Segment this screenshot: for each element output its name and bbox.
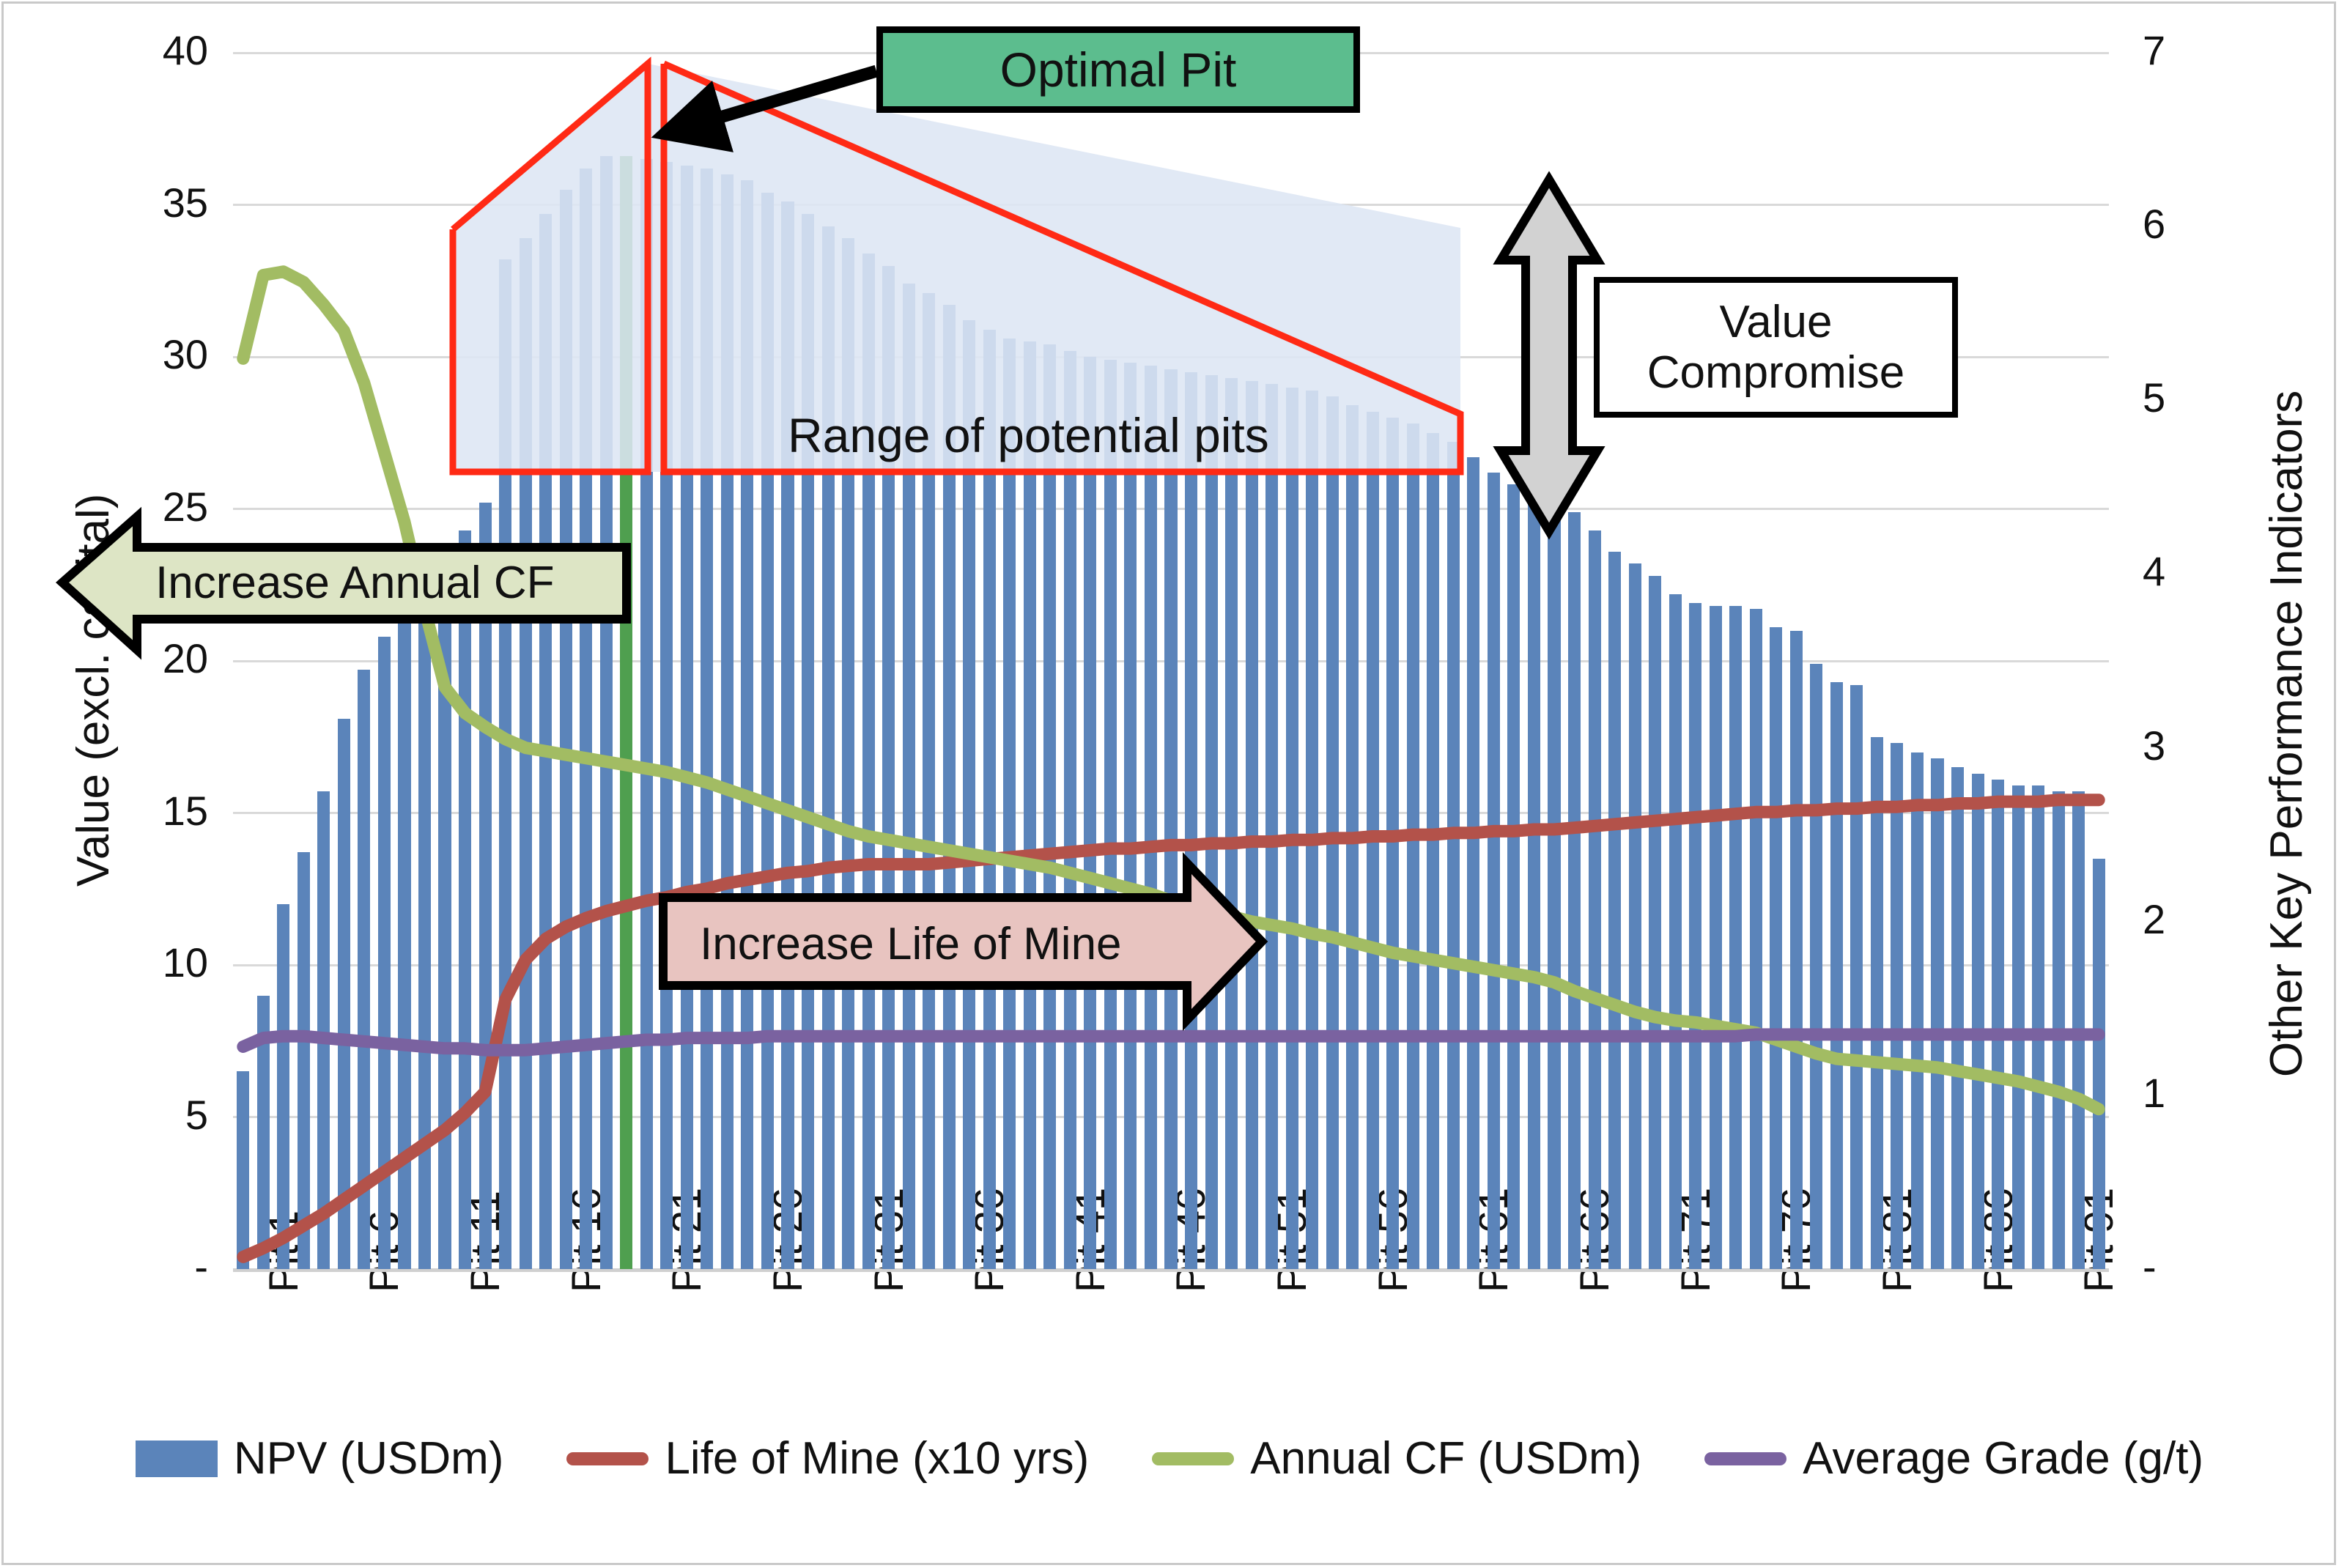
bar	[1145, 366, 1157, 1269]
bar	[2052, 791, 2065, 1269]
bar	[2012, 785, 2025, 1269]
y-tick-label-left: 5	[185, 1091, 208, 1139]
bar	[822, 226, 835, 1269]
bar	[1205, 375, 1218, 1269]
bar-optimal-pit	[620, 156, 632, 1269]
bar	[520, 238, 532, 1269]
gridline	[233, 204, 2109, 206]
bar	[1286, 388, 1298, 1270]
bar	[681, 166, 693, 1269]
bar	[1750, 609, 1762, 1269]
bar	[1326, 396, 1339, 1269]
y-tick-label-left: 30	[163, 330, 208, 378]
bar	[459, 530, 471, 1269]
legend-label: Life of Mine (x10 yrs)	[665, 1432, 1089, 1484]
bar	[660, 162, 673, 1269]
legend-label: Average Grade (g/t)	[1803, 1432, 2203, 1484]
bar	[781, 201, 794, 1269]
bar	[378, 637, 391, 1269]
value-compromise-box[interactable]: Value Compromise	[1594, 277, 1958, 418]
chart-page: Value (excl. capital) Other Key Performa…	[0, 0, 2339, 1568]
bar	[1729, 606, 1742, 1269]
y-axis-title-left: Value (excl. capital)	[67, 494, 119, 887]
legend-swatch-line-icon	[1704, 1452, 1786, 1465]
bar	[2093, 859, 2105, 1269]
bar	[1225, 378, 1238, 1269]
bar	[1447, 442, 1460, 1269]
bar	[298, 852, 310, 1269]
bar	[1871, 737, 1883, 1269]
bar	[580, 169, 592, 1269]
legend-item[interactable]: Annual CF (USDm)	[1152, 1432, 1641, 1484]
bar	[1669, 594, 1682, 1269]
y-tick-label-left: 35	[163, 179, 208, 226]
bar	[1043, 344, 1056, 1269]
legend-swatch-line-icon	[1152, 1452, 1234, 1465]
y-tick-label-right: 2	[2143, 895, 2165, 943]
y-tick-label-right: 3	[2143, 722, 2165, 769]
bar	[1306, 391, 1318, 1269]
bar	[1911, 752, 1924, 1270]
bar	[1608, 552, 1621, 1269]
bar	[1810, 664, 1822, 1269]
bar	[1246, 381, 1258, 1269]
bar	[600, 156, 613, 1269]
bar	[1972, 774, 1984, 1269]
bar	[1185, 372, 1197, 1269]
bar	[438, 552, 451, 1269]
bar	[257, 996, 270, 1270]
bar	[701, 169, 713, 1269]
plot-area	[233, 53, 2109, 1269]
legend-swatch-line-icon	[566, 1452, 649, 1465]
bar	[1548, 497, 1560, 1269]
bar	[479, 503, 492, 1269]
bar	[2072, 791, 2085, 1269]
bar	[317, 791, 330, 1269]
bar	[983, 330, 996, 1269]
bar	[640, 159, 653, 1269]
chart-legend: NPV (USDm)Life of Mine (x10 yrs)Annual C…	[0, 1432, 2339, 1484]
optimal-pit-label: Optimal Pit	[1000, 42, 1237, 97]
range-of-potential-pits-label: Range of potential pits	[788, 407, 1269, 463]
bar	[761, 193, 774, 1269]
bar	[1830, 682, 1843, 1269]
bar	[802, 214, 814, 1269]
bar	[1568, 512, 1581, 1269]
increase-life-of-mine-label: Increase Life of Mine	[700, 918, 1122, 970]
bar	[358, 670, 370, 1269]
y-tick-label-right: 5	[2143, 374, 2165, 421]
bar	[721, 174, 734, 1269]
y-tick-label-right: 1	[2143, 1069, 2165, 1117]
y-tick-label-right: 7	[2143, 26, 2165, 74]
bar	[1589, 530, 1601, 1269]
bar	[237, 1071, 249, 1269]
bar	[842, 238, 854, 1269]
y-tick-label-right: -	[2143, 1243, 2157, 1290]
bar	[1265, 384, 1278, 1269]
bar	[1629, 563, 1641, 1269]
value-compromise-line1: Value	[1720, 297, 1833, 347]
bar	[1367, 412, 1379, 1269]
bar	[862, 254, 875, 1269]
value-compromise-line2: Compromise	[1647, 347, 1904, 398]
increase-annual-cf-label: Increase Annual CF	[155, 557, 555, 609]
optimal-pit-callout[interactable]: Optimal Pit	[876, 26, 1360, 113]
bar	[1689, 603, 1701, 1269]
bar	[1931, 758, 1943, 1269]
bar	[1891, 743, 1903, 1269]
y-tick-label-right: 6	[2143, 200, 2165, 248]
bar	[1790, 631, 1803, 1270]
bar	[1003, 339, 1016, 1269]
bar	[418, 579, 431, 1269]
y-tick-label-left: 15	[163, 787, 208, 835]
legend-item[interactable]: NPV (USDm)	[136, 1432, 504, 1484]
bar	[1992, 780, 2004, 1269]
bar	[1024, 341, 1036, 1269]
bar	[1386, 418, 1399, 1269]
legend-label: Annual CF (USDm)	[1250, 1432, 1641, 1484]
bar	[1649, 576, 1661, 1269]
bar	[1124, 363, 1137, 1269]
bar	[560, 190, 572, 1269]
bar	[1850, 685, 1863, 1269]
y-axis-title-right: Other Key Performance Indicators	[2261, 391, 2313, 1077]
bar	[338, 719, 350, 1269]
bar	[1164, 369, 1177, 1269]
y-tick-label-left: 10	[163, 939, 208, 986]
bar	[1467, 457, 1479, 1269]
bar	[1407, 424, 1419, 1269]
legend-label: NPV (USDm)	[234, 1432, 504, 1484]
legend-swatch-bar-icon	[136, 1441, 218, 1477]
bar	[1507, 484, 1520, 1269]
y-tick-label-left: 25	[163, 483, 208, 530]
bar	[741, 180, 753, 1269]
y-tick-label-left: 40	[163, 26, 208, 74]
y-tick-label-left: 20	[163, 635, 208, 682]
legend-item[interactable]: Life of Mine (x10 yrs)	[566, 1432, 1089, 1484]
bar	[1770, 627, 1782, 1269]
bar	[2032, 785, 2044, 1269]
bar	[1104, 360, 1117, 1269]
bar	[539, 214, 552, 1269]
bar	[1528, 494, 1540, 1269]
bar	[499, 259, 511, 1269]
bar	[1346, 405, 1359, 1269]
bar	[1951, 767, 1964, 1269]
y-tick-label-right: 4	[2143, 547, 2165, 595]
legend-item[interactable]: Average Grade (g/t)	[1704, 1432, 2203, 1484]
bar	[1064, 351, 1076, 1269]
bar	[398, 603, 410, 1269]
bar	[1710, 606, 1722, 1269]
bar	[1084, 357, 1096, 1269]
y-tick-label-left: -	[194, 1243, 208, 1290]
bar	[277, 904, 289, 1269]
bar	[1488, 473, 1500, 1269]
bar	[1427, 433, 1439, 1269]
